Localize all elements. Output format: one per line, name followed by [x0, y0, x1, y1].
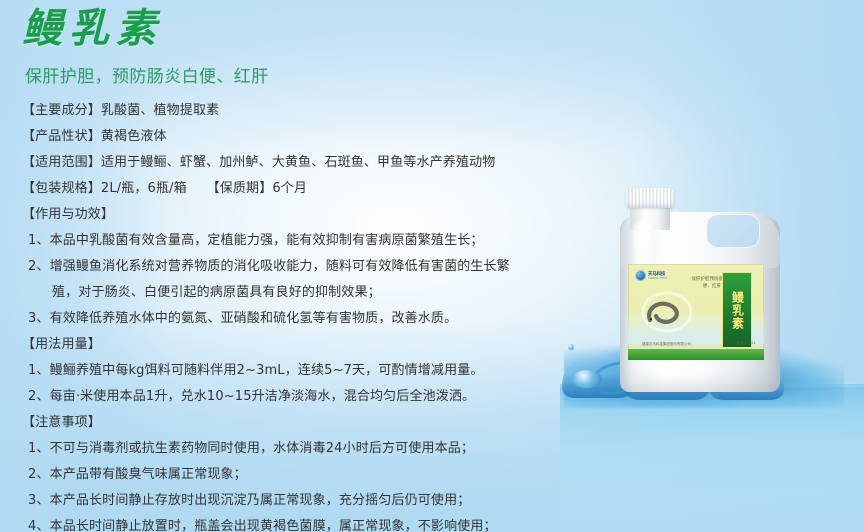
- section-2-item-3: 4、本品长时间静止放置时，瓶盖会出现黄褐色菌膜，属正常现象，不影响使用；: [0, 514, 620, 532]
- product-bottle: 天马科技 TIANMA TECH 保肝护胆预防肠炎白便、红肝 鳗乳素 福建天马科…: [614, 188, 794, 392]
- spec-line-1: 【产品性状】黄褐色液体: [0, 124, 620, 150]
- page-title: 鳗乳素: [22, 4, 163, 54]
- section-0-item-0: 1、本品中乳酸菌有效含量高，定植能力强，能有效抑制有害病原菌繁殖生长；: [0, 228, 620, 254]
- section-2-item-1: 2、本产品带有酸臭气味属正常现象；: [0, 462, 620, 488]
- brand-mark-icon: [635, 270, 646, 281]
- eel-illustration-icon: [640, 290, 694, 334]
- label-product-name: 鳗乳素: [731, 291, 744, 330]
- section-1-item-1: 2、每亩·米使用本品1升，兑水10~15升洁净淡海水，混合均匀后全池泼洒。: [0, 384, 620, 410]
- spec-line-0: 【主要成分】乳酸菌、植物提取素: [0, 98, 620, 124]
- label-bottom-bar: [628, 349, 764, 360]
- section-2-item-0: 1、不可与消毒剂或抗生素药物同时使用，水体消毒24小时后方可使用本品；: [0, 436, 620, 462]
- label-company-name: 福建天马科技集团股份有限公司: [642, 341, 691, 346]
- section-2-item-2: 3、本产品长时间静止存放时出现沉淀乃属正常现象，充分摇匀后仍可使用；: [0, 488, 620, 514]
- section-0-item-2: 殖，对于肠炎、白便引起的病原菌具有良好的抑制效果；: [0, 280, 620, 306]
- product-poster: 天马科技 TIANMA TECH 保肝护胆预防肠炎白便、红肝 鳗乳素 福建天马科…: [0, 0, 864, 532]
- brand-name: 天马科技: [648, 272, 667, 277]
- label-green-band: 鳗乳素: [722, 272, 752, 348]
- label-net-volume: 净含量：2L: [736, 341, 756, 346]
- section-heading-1: 【用法用量】: [0, 332, 620, 358]
- spec-list: 【主要成分】乳酸菌、植物提取素【产品性状】黄褐色液体【适用范围】适用于鳗鲡、虾蟹…: [0, 98, 620, 532]
- section-heading-0: 【作用与功效】: [0, 202, 620, 228]
- page-subtitle: 保肝护胆，预防肠炎白便、红肝: [25, 66, 269, 88]
- packaging-line: 【包装规格】2L/瓶，6瓶/箱 【保质期】6个月: [0, 176, 620, 202]
- label-brand-logo: 天马科技 TIANMA TECH: [635, 270, 667, 281]
- brand-pinyin: TIANMA TECH: [648, 277, 667, 280]
- spec-line-2: 【适用范围】适用于鳗鲡、虾蟹、加州鲈、大黄鱼、石斑鱼、甲鱼等水产养殖动物: [0, 150, 620, 176]
- section-0-item-1: 2、增强鳗鱼消化系统对营养物质的消化吸收能力，随料可有效降低有害菌的生长繁: [0, 254, 620, 280]
- bottle-handle: [706, 214, 760, 248]
- section-1-item-0: 1、鳗鲡养殖中每kg饵料可随料伴用2~3mL，连续5~7天，可酌情增减用量。: [0, 358, 620, 384]
- section-heading-2: 【注意事项】: [0, 410, 620, 436]
- bottle-label: 天马科技 TIANMA TECH 保肝护胆预防肠炎白便、红肝 鳗乳素 福建天马科…: [628, 264, 764, 360]
- section-0-item-3: 3、有效降低养殖水体中的氨氮、亚硝酸和硫化氢等有害物质，改善水质。: [0, 306, 620, 332]
- bottle-cap: [626, 188, 674, 208]
